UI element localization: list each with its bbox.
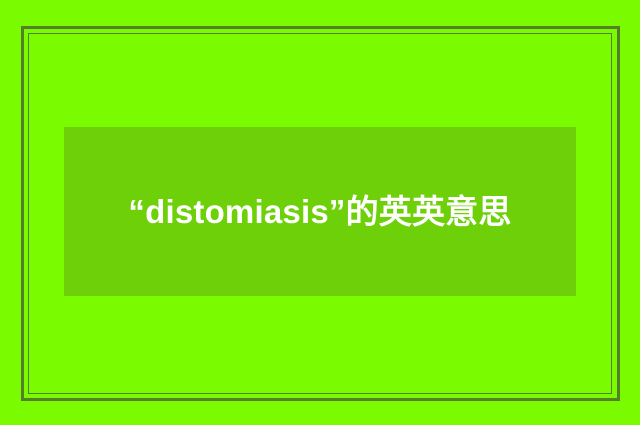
poster-canvas: “distomiasis”的英英意思 xyxy=(0,0,640,425)
headline-panel: “distomiasis”的英英意思 xyxy=(64,127,576,296)
headline-text: “distomiasis”的英英意思 xyxy=(64,184,576,240)
